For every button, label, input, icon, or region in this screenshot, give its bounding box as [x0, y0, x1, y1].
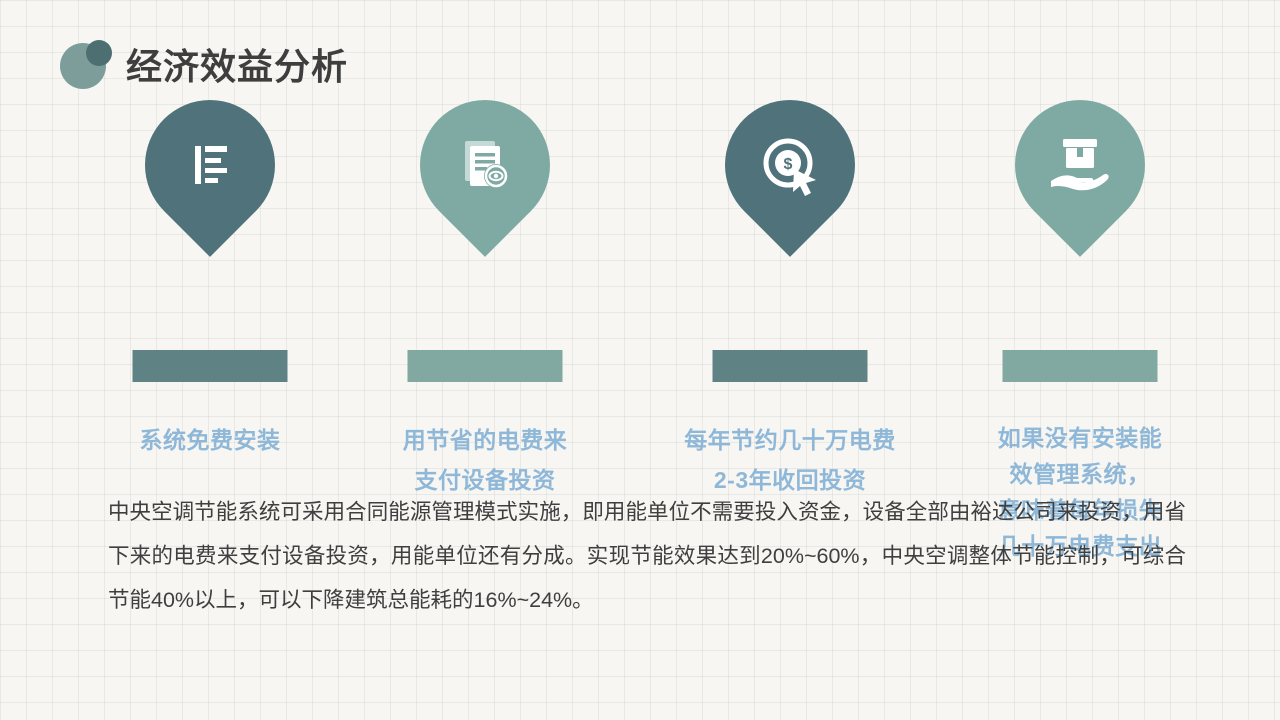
pin-bar-3: [713, 350, 868, 382]
title-decor-circle-front: [86, 40, 112, 66]
pin-item-2: 用节省的电费来 支付设备投资: [335, 100, 635, 260]
pin-item-1: 系统免费安装: [60, 100, 360, 260]
pin-graphic-3: $: [725, 100, 855, 260]
pin-caption-3: 每年节约几十万电费 2-3年收回投资: [645, 420, 935, 500]
pin-item-4: 如果没有安装能 效管理系统， 意味着每年损失 几十万电费支出: [930, 100, 1230, 260]
slide-canvas: 经济效益分析 系统免费安装: [0, 0, 1280, 720]
page-title: 经济效益分析: [126, 38, 348, 90]
svg-text:$: $: [784, 156, 793, 173]
pin-bar-1: [133, 350, 288, 382]
pin-caption-2: 用节省的电费来 支付设备投资: [340, 420, 630, 500]
document-eye-icon: [420, 100, 550, 230]
pin-bar-2: [408, 350, 563, 382]
pin-item-3: $ 每年节约几十万电费 2-3年收回投资: [640, 100, 940, 260]
box-hand-icon: [1015, 100, 1145, 230]
pin-graphic-2: [420, 100, 550, 260]
pin-graphic-1: [145, 100, 275, 260]
pin-bar-4: [1003, 350, 1158, 382]
body-paragraph: 中央空调节能系统可采用合同能源管理模式实施，即用能单位不需要投入资金，设备全部由…: [108, 490, 1186, 622]
pin-caption-1: 系统免费安装: [65, 420, 355, 460]
pin-graphic-4: [1015, 100, 1145, 260]
document-lines-icon: [145, 100, 275, 230]
dollar-cursor-icon: $: [725, 100, 855, 230]
